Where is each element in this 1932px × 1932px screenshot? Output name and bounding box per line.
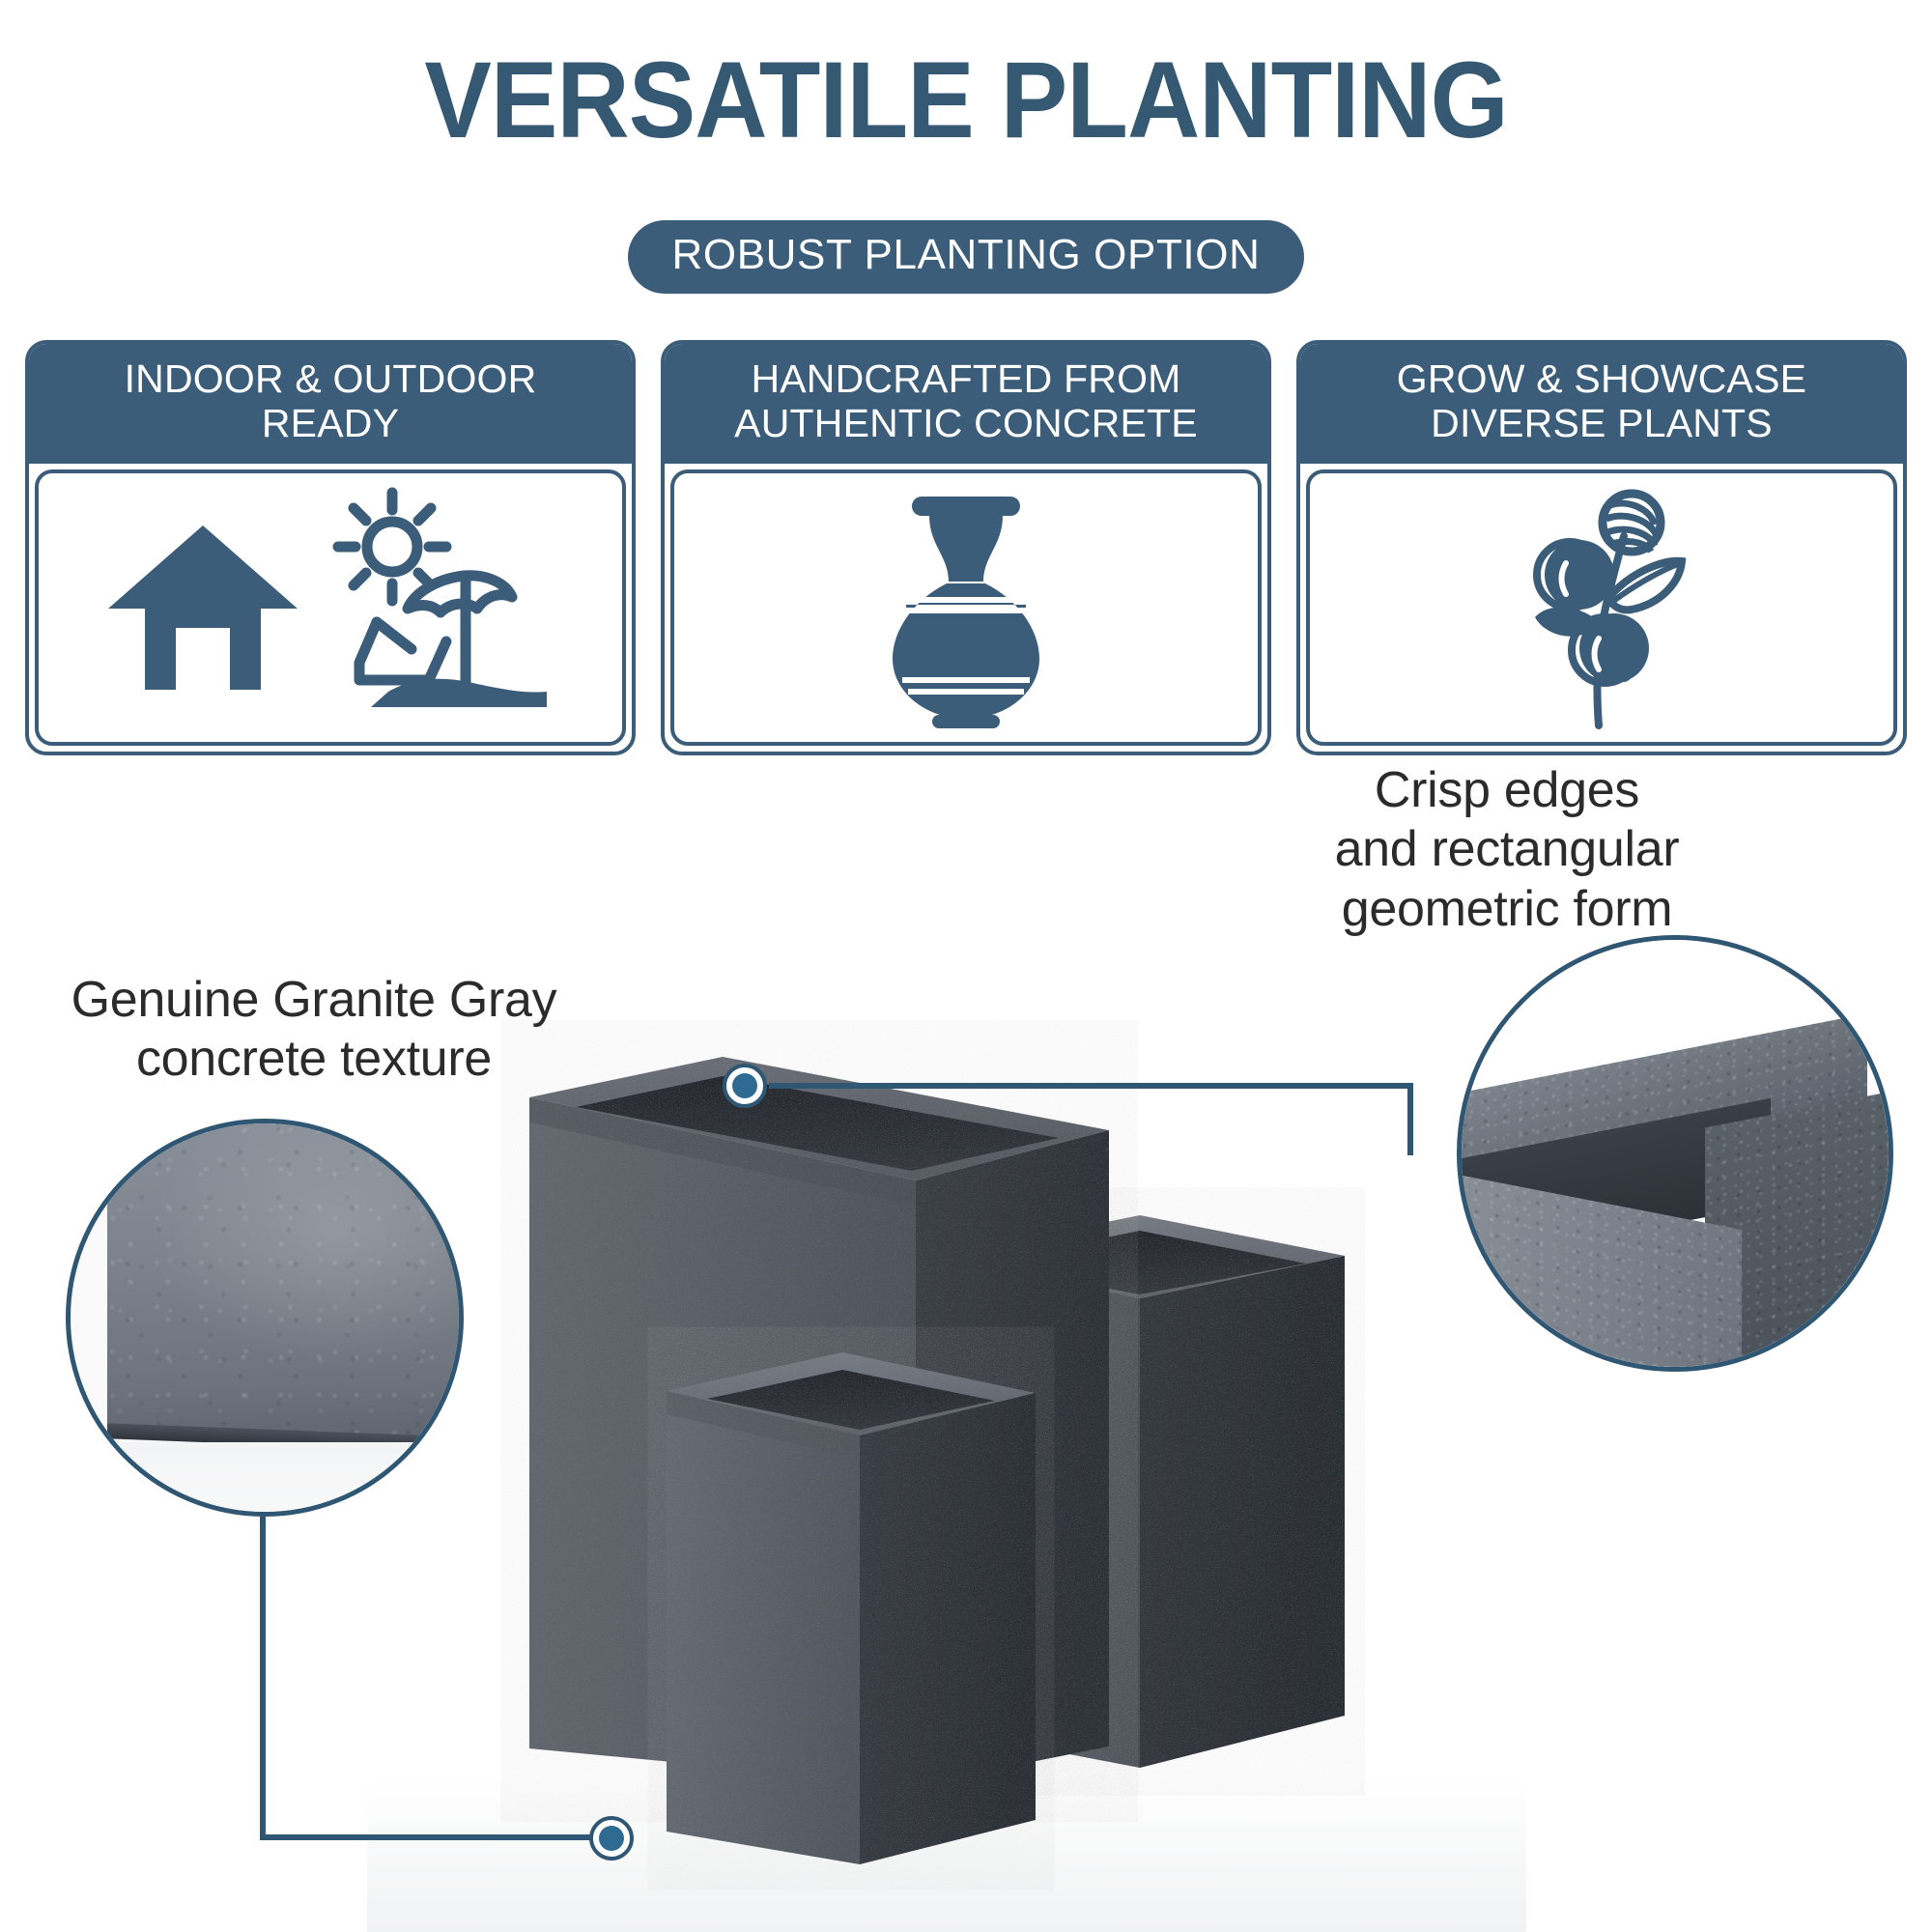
zoom-circle-crisp-edges — [1457, 935, 1893, 1372]
callout-crisp-edges: Crisp edges and rectangular geometric fo… — [1082, 761, 1932, 939]
callout-line-2: concrete texture — [10, 1030, 618, 1089]
concrete-texture-swatch — [107, 1120, 464, 1438]
zoom-stage-right — [1462, 940, 1889, 1367]
marker-dot — [732, 1073, 757, 1098]
callout-marker-granite-texture[interactable] — [589, 1816, 634, 1861]
callout-line-2: and rectangular — [1082, 820, 1932, 879]
callout-marker-crisp-edges[interactable] — [723, 1064, 767, 1108]
planter-small — [667, 1352, 1036, 1864]
callout-line-1: Genuine Granite Gray — [10, 971, 618, 1030]
callout-line-3: geometric form — [1082, 880, 1932, 939]
infographic-page: VERSATILE PLANTING ROBUST PLANTING OPTIO… — [0, 0, 1932, 1932]
zoom-floor-left — [71, 1442, 464, 1517]
zoom-circle-granite-texture — [66, 1119, 464, 1517]
callout-granite-texture: Genuine Granite Gray concrete texture — [10, 971, 618, 1090]
callout-line-1: Crisp edges — [1082, 761, 1932, 820]
marker-dot — [599, 1826, 624, 1851]
